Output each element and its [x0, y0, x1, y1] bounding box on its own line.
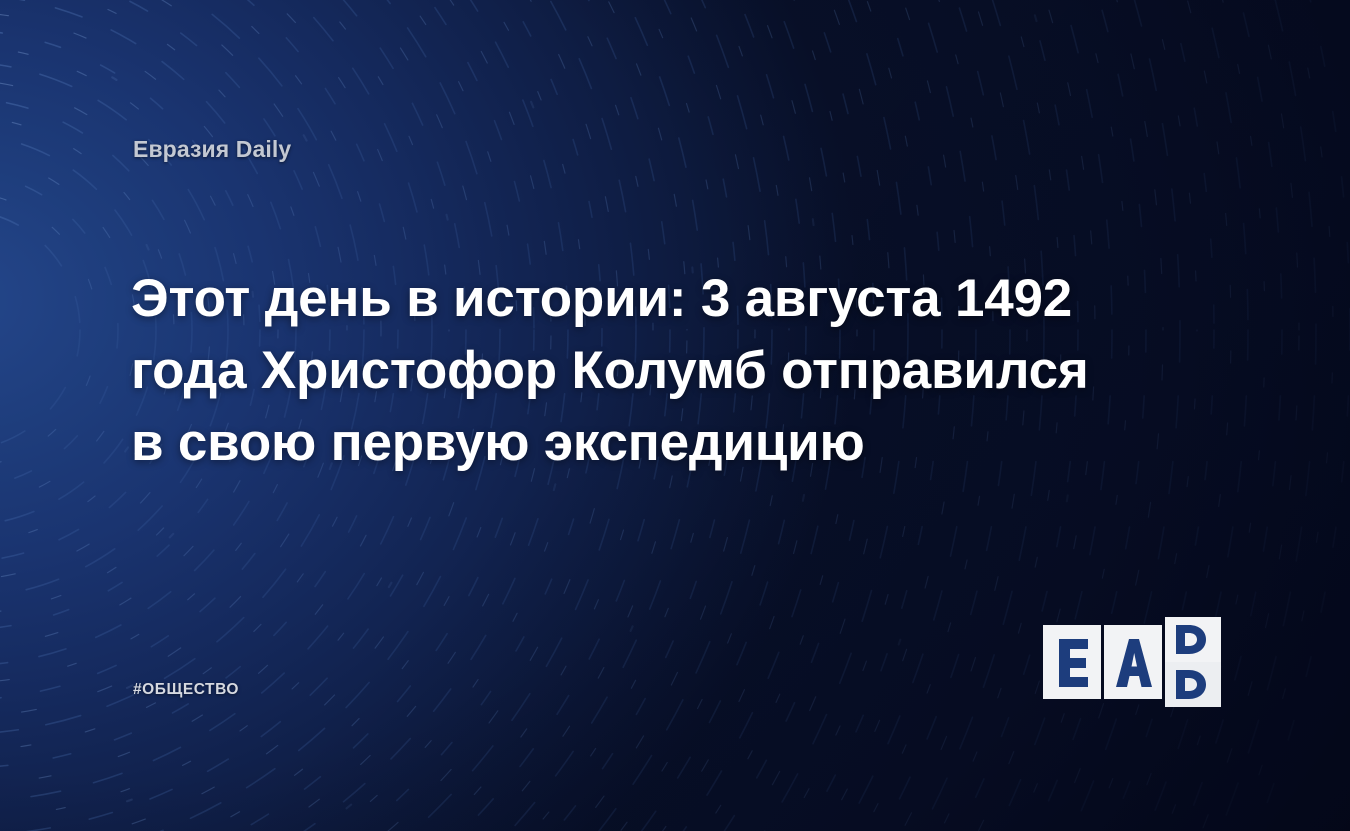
logo-tile-a	[1104, 625, 1162, 699]
logo-tile-e	[1043, 625, 1101, 699]
news-share-card: Евразия Daily Этот день в истории: 3 авг…	[0, 0, 1350, 831]
category-tag[interactable]: #ОБЩЕСТВО	[133, 681, 239, 699]
logo-tile-d	[1165, 617, 1221, 707]
page-title: Этот день в истории: 3 августа 1492 года…	[131, 263, 1131, 479]
eadaily-logo	[1043, 617, 1221, 707]
publication-masthead: Евразия Daily	[133, 136, 291, 163]
